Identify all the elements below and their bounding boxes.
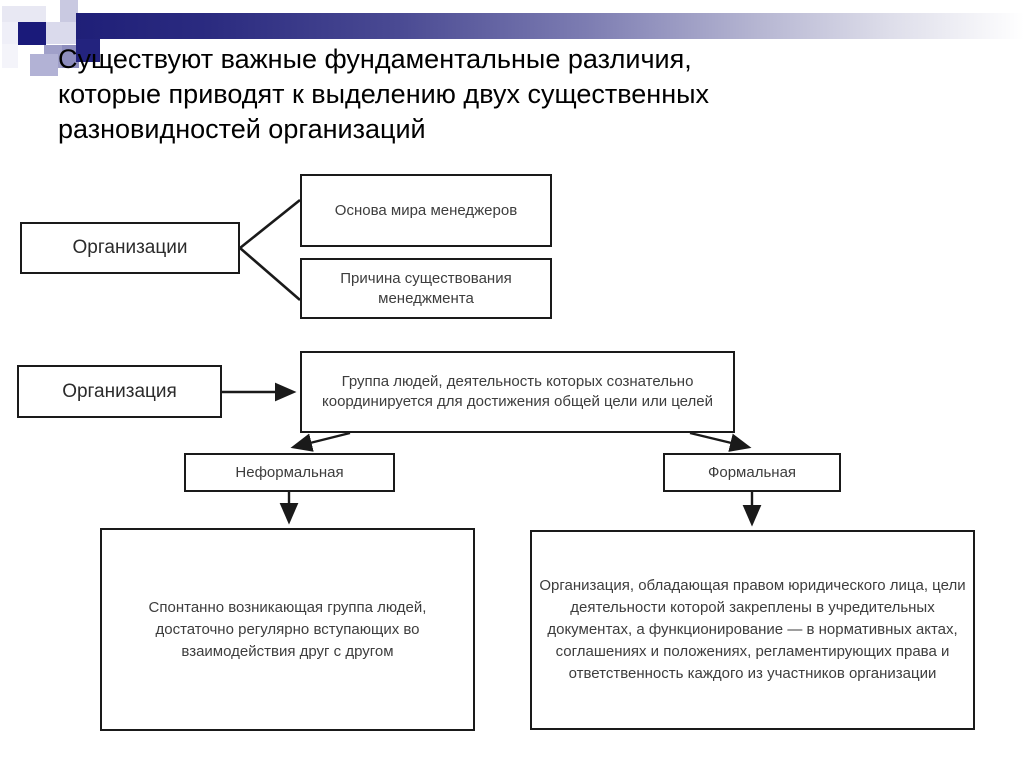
node-organizacii-label: Организации <box>22 237 238 259</box>
connector-gruppa-formalnaya <box>690 433 748 447</box>
slide-canvas: Существуют важные фундаментальные различ… <box>0 0 1024 767</box>
node-gruppa-lyudey: Группа людей, деятельность которых созна… <box>300 351 735 433</box>
connector-gruppa-neformalnaya <box>294 433 350 447</box>
node-organizaciya: Организация <box>17 365 222 418</box>
node-osnova-label: Основа мира менеджеров <box>302 200 550 221</box>
connector-organizacii-prichina <box>240 248 300 300</box>
node-spontannaya-label: Спонтанно возникающая группа людей, дост… <box>102 597 473 663</box>
node-formalnaya-label: Формальная <box>665 464 839 481</box>
node-gruppa-label: Группа людей, деятельность которых созна… <box>302 372 733 412</box>
node-prichina-label: Причина существования менеджмента <box>302 269 550 309</box>
node-formalnaya: Формальная <box>663 453 841 492</box>
node-prichina-sushchestvovaniya: Причина существования менеджмента <box>300 258 552 319</box>
node-organizaciya-label: Организация <box>19 381 220 403</box>
connector-organizacii-osnova <box>240 200 300 248</box>
node-neformalnaya-label: Неформальная <box>186 464 393 481</box>
node-osnova-mira-menedzherov: Основа мира менеджеров <box>300 174 552 247</box>
node-yuridicheskoe-lico: Организация, обладающая правом юридическ… <box>530 530 975 730</box>
node-spontannaya-gruppa: Спонтанно возникающая группа людей, дост… <box>100 528 475 731</box>
node-organizacii: Организации <box>20 222 240 274</box>
node-neformalnaya: Неформальная <box>184 453 395 492</box>
node-yurlico-label: Организация, обладающая правом юридическ… <box>532 575 973 685</box>
